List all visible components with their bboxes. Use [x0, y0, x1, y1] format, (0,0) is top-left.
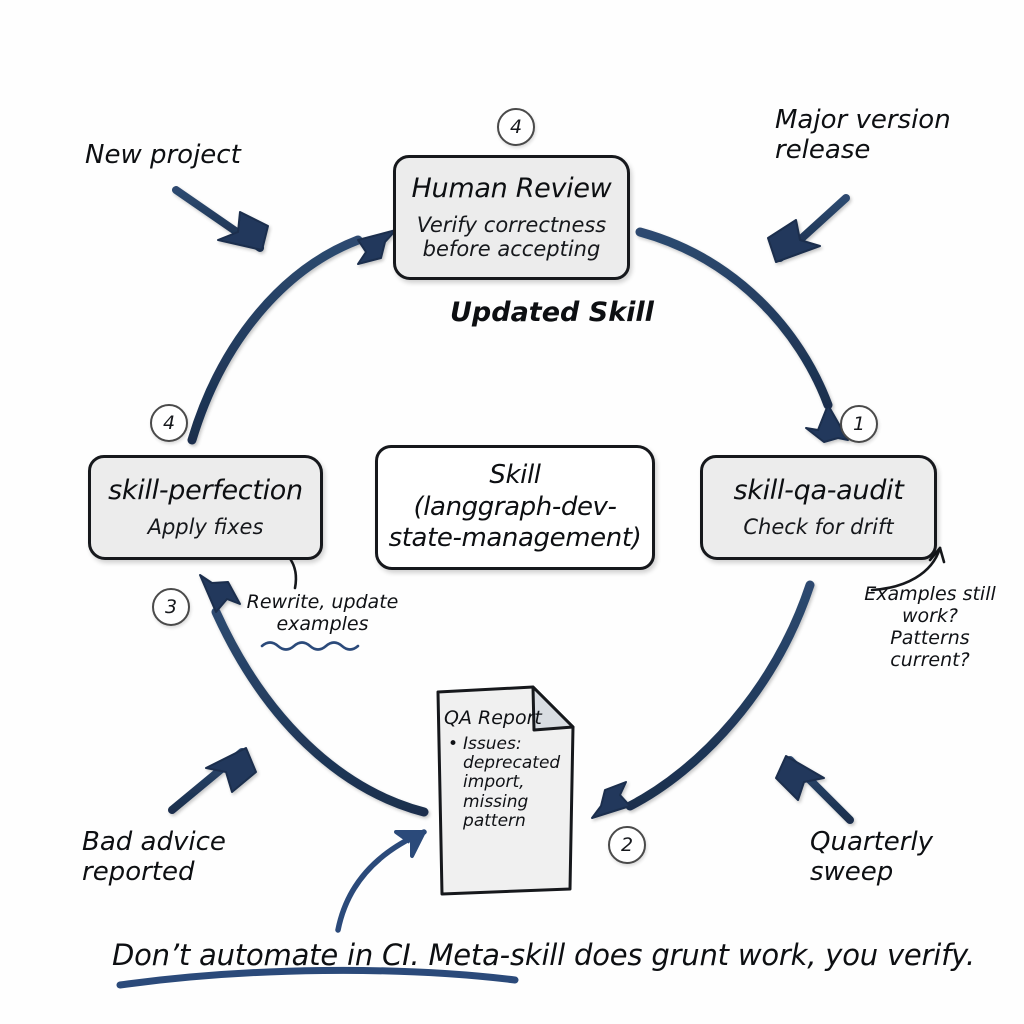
- node-skill-perfection[interactable]: skill-perfection Apply fixes: [88, 455, 323, 560]
- node-human-review[interactable]: Human Review Verify correctness before a…: [393, 155, 630, 280]
- node-skill-center-line2: (langgraph-dev-: [413, 492, 616, 524]
- annotation-rewrite-update-examples: Rewrite, update examples: [245, 591, 400, 635]
- caption-note: Don’t automate in CI. Meta-skill does gr…: [112, 938, 975, 972]
- edge-label-major-version-release: Major version release: [775, 105, 951, 165]
- annotation-examples-still-work: Examples still work? Patterns current?: [860, 583, 1000, 671]
- diagram-canvas: Human Review Verify correctness before a…: [0, 0, 1024, 1024]
- arrow-review-to-audit: [640, 232, 848, 442]
- bullet-dot-icon: •: [448, 735, 458, 754]
- node-skill-qa-audit-subtitle: Check for drift: [735, 515, 901, 539]
- node-skill-perfection-subtitle: Apply fixes: [140, 515, 272, 539]
- document-qa-report-body: QA Report • Issues: deprecated import, m…: [430, 683, 580, 898]
- node-skill-perfection-title: skill-perfection: [108, 476, 303, 506]
- document-qa-report[interactable]: QA Report • Issues: deprecated import, m…: [430, 683, 580, 898]
- node-human-review-subtitle: Verify correctness before accepting: [409, 213, 615, 261]
- arrow-audit-to-report: [592, 585, 810, 818]
- step-badge-3: 3: [152, 588, 190, 626]
- node-skill-qa-audit[interactable]: skill-qa-audit Check for drift: [700, 455, 937, 560]
- node-skill-center-line3: state-management): [389, 523, 642, 555]
- node-human-review-title: Human Review: [412, 174, 612, 204]
- arrow-new-project: [176, 190, 268, 250]
- edge-label-new-project: New project: [85, 140, 241, 170]
- step-badge-4-left: 4: [150, 404, 188, 442]
- arrow-caption-to-report: [338, 832, 424, 930]
- caption-underline: [120, 970, 515, 985]
- arrow-bad-advice-reported: [172, 748, 256, 810]
- squiggle-underline: [262, 643, 358, 650]
- arrow-major-version-release: [768, 198, 846, 262]
- edge-label-bad-advice-reported: Bad advice reported: [82, 827, 226, 887]
- label-updated-skill: Updated Skill: [450, 297, 654, 328]
- edge-label-quarterly-sweep: Quarterly sweep: [810, 827, 933, 887]
- step-badge-2: 2: [608, 826, 646, 864]
- document-qa-report-title: QA Report: [444, 707, 570, 729]
- document-qa-report-bullet: Issues: deprecated import, missing patte…: [463, 735, 560, 831]
- node-skill-center[interactable]: Skill (langgraph-dev- state-management): [375, 445, 655, 570]
- arrow-perfection-to-review: [192, 230, 396, 440]
- document-qa-report-bullet-row: • Issues: deprecated import, missing pat…: [444, 735, 570, 831]
- step-badge-1: 1: [840, 405, 878, 443]
- node-skill-center-line1: Skill: [489, 460, 540, 492]
- node-skill-qa-audit-title: skill-qa-audit: [733, 476, 903, 506]
- arrow-quarterly-sweep: [776, 756, 850, 820]
- step-badge-4-top: 4: [497, 108, 535, 146]
